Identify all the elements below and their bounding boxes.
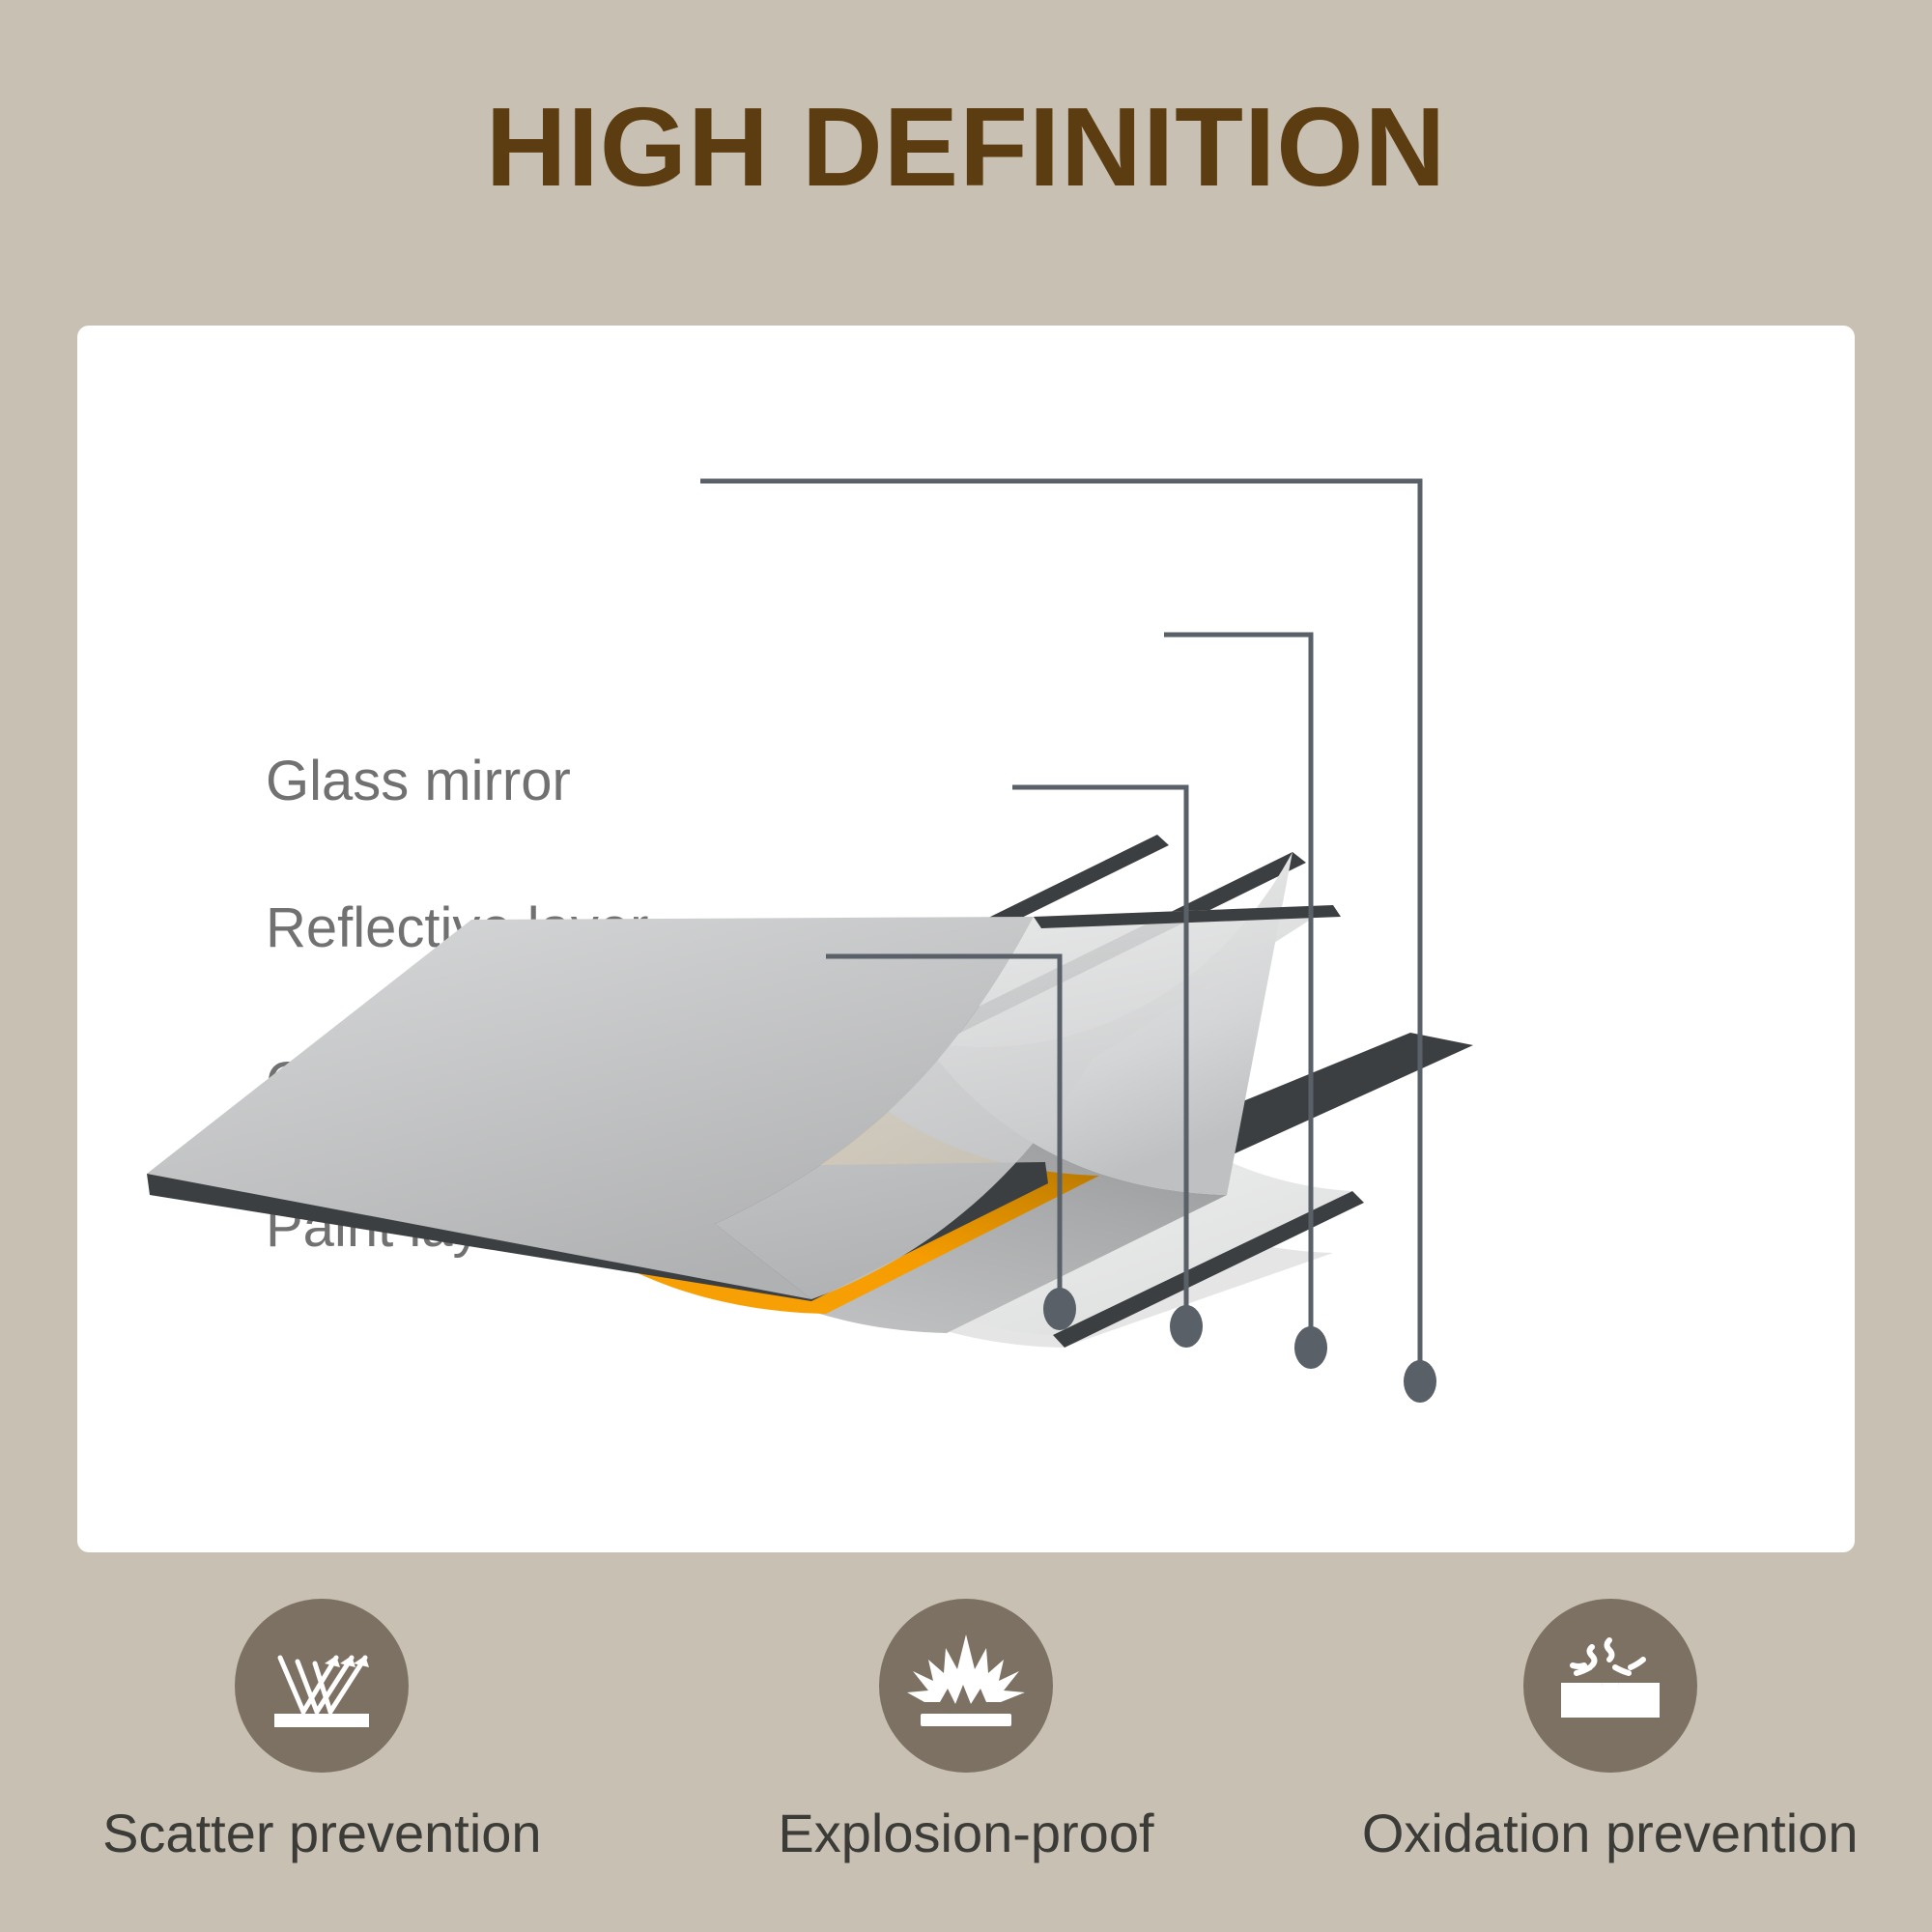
page-title: HIGH DEFINITION bbox=[0, 89, 1932, 207]
leader-dot-reflective-layer bbox=[1294, 1326, 1327, 1369]
leader-dot-glass-mirror bbox=[1404, 1360, 1436, 1403]
leader-line-copper-layer-film bbox=[1012, 787, 1186, 1309]
leader-lines bbox=[77, 326, 1855, 1552]
feature-badge-oxidation bbox=[1523, 1599, 1697, 1773]
diagram-card: Glass mirror Reflective layer Copper lay… bbox=[77, 326, 1855, 1552]
corrosion-fumes-icon bbox=[1548, 1623, 1673, 1748]
feature-item-oxidation-prevention[interactable]: Oxidation prevention bbox=[1311, 1599, 1910, 1864]
feature-badge-scatter bbox=[235, 1599, 409, 1773]
feature-row: Scatter prevention Explosion-proof bbox=[0, 1599, 1932, 1918]
light-reflection-icon bbox=[259, 1623, 384, 1748]
feature-caption-oxidation-prevention: Oxidation prevention bbox=[1362, 1802, 1859, 1864]
feature-caption-explosion-proof: Explosion-proof bbox=[778, 1802, 1153, 1864]
feature-caption-scatter-prevention: Scatter prevention bbox=[102, 1802, 541, 1864]
leader-dot-copper-layer-film bbox=[1170, 1305, 1203, 1348]
feature-item-explosion-proof[interactable]: Explosion-proof bbox=[667, 1599, 1265, 1864]
leader-line-paint-layer bbox=[826, 956, 1060, 1292]
feature-badge-explosion bbox=[879, 1599, 1053, 1773]
feature-item-scatter-prevention[interactable]: Scatter prevention bbox=[22, 1599, 621, 1864]
explosion-burst-icon bbox=[903, 1623, 1029, 1748]
leader-dot-paint-layer bbox=[1043, 1288, 1076, 1330]
